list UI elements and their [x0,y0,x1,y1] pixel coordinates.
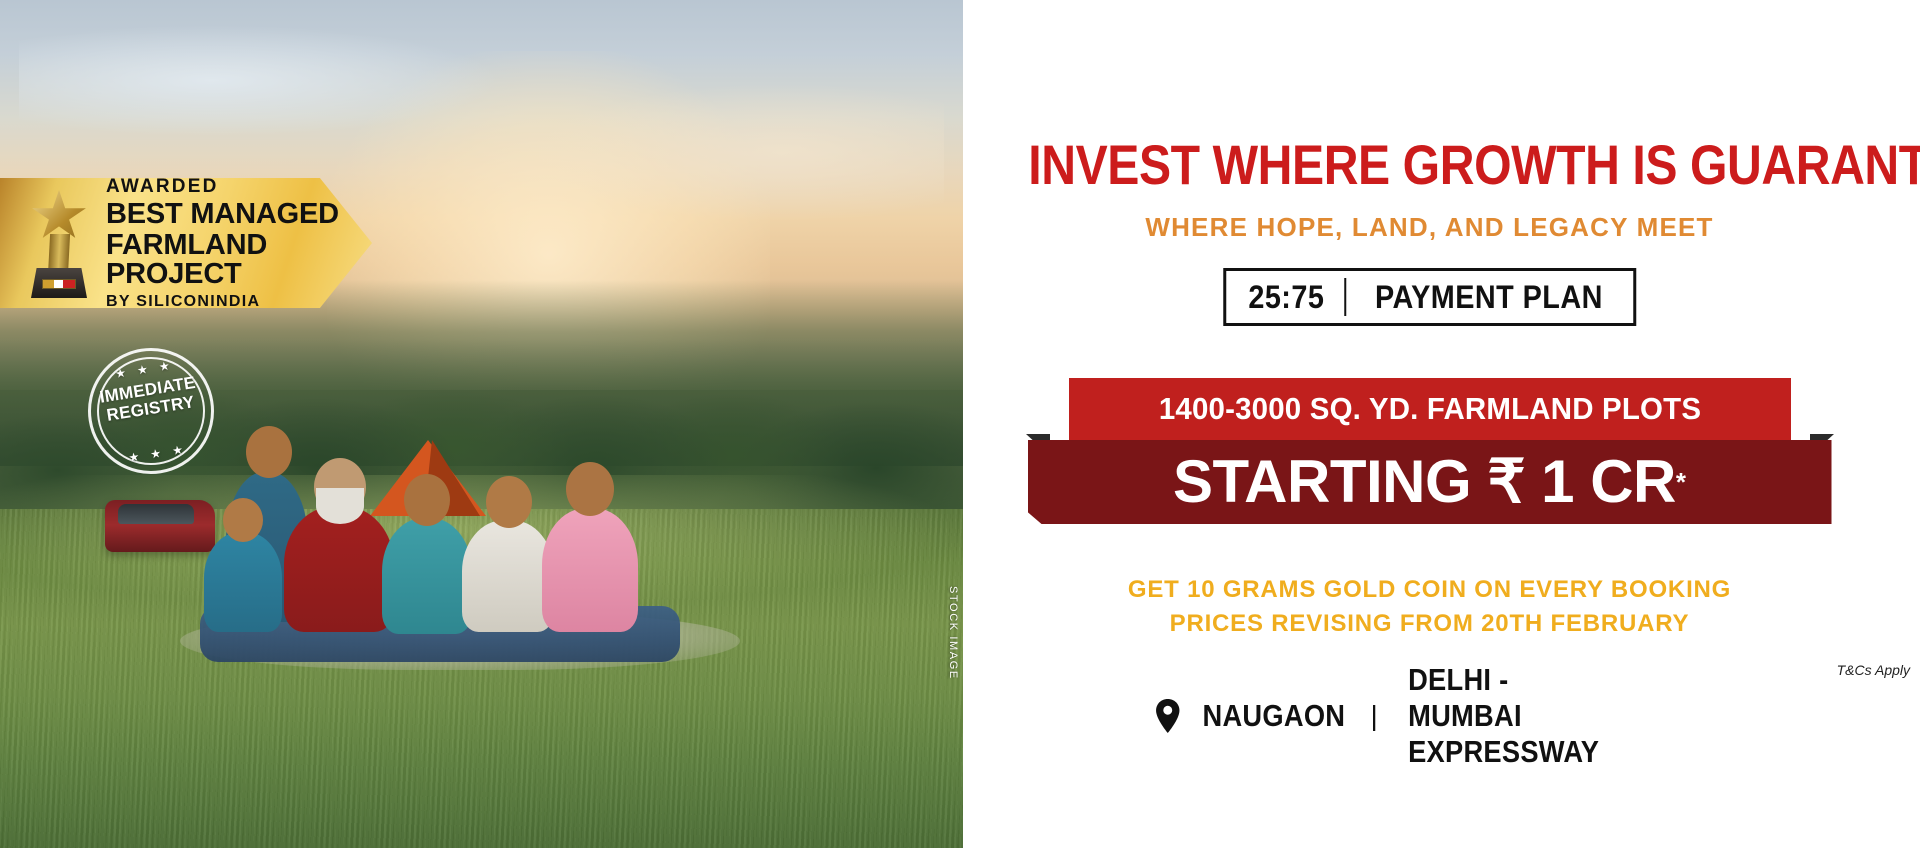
ad-banner: AWARDED BEST MANAGED FARMLAND PROJECT BY… [0,0,1920,848]
cloud-right [539,85,943,221]
person-body-5 [462,520,554,632]
person-beard-3 [316,488,364,524]
person-head-2 [223,498,263,542]
price-asterisk: * [1676,467,1686,498]
terms-text: T&Cs Apply [1837,662,1910,678]
location-row: NAUGAON | DELHI - MUMBAI EXPRESSWAY [1154,662,1633,770]
award-badge: AWARDED BEST MANAGED FARMLAND PROJECT BY… [0,178,372,308]
headline: INVEST WHERE GROWTH IS GUARANTEED [1028,132,1830,197]
stock-image-label: STOCK IMAGE [947,586,959,680]
award-line-best-managed: BEST MANAGED [106,200,372,229]
award-line-farmland-project: FARMLAND PROJECT [106,231,372,289]
payment-plan-divider [1344,278,1346,316]
person-body-3 [284,506,394,632]
offer-line-1: GET 10 GRAMS GOLD COIN ON EVERY BOOKING [963,576,1896,604]
plot-size-banner: 1400-3000 SQ. YD. FARMLAND PLOTS [1069,378,1791,440]
content-panel: INVEST WHERE GROWTH IS GUARANTEED WHERE … [963,0,1920,848]
award-text-block: AWARDED BEST MANAGED FARMLAND PROJECT BY… [106,177,372,310]
person-body-6 [542,508,638,632]
price-ribbon: 1400-3000 SQ. YD. FARMLAND PLOTS STARTIN… [1050,378,1810,524]
payment-plan-label: PAYMENT PLAN [1360,271,1618,323]
location-place: NAUGAON [1202,698,1345,734]
person-head-6 [566,462,614,516]
person-body-4 [382,518,472,634]
price-text: STARTING ₹ 1 CR [1173,447,1676,517]
offer-line-2: PRICES REVISING FROM 20TH FEBRUARY [963,610,1896,638]
trophy-icon [22,188,96,298]
hero-photo: AWARDED BEST MANAGED FARMLAND PROJECT BY… [0,0,963,848]
person-head-5 [486,476,532,528]
map-pin-icon [1154,699,1180,733]
payment-plan-box: 25:75 PAYMENT PLAN [1223,268,1636,326]
person-head-4 [404,474,450,526]
location-road: DELHI - MUMBAI EXPRESSWAY [1408,662,1618,770]
immediate-registry-stamp: ★ ★ ★ IMMEDIATE REGISTRY ★ ★ ★ [79,339,223,483]
car-window [118,504,194,524]
person-head-1 [246,426,292,478]
payment-plan-ratio: 25:75 [1232,271,1339,323]
cloud-left [19,25,501,135]
location-separator: | [1367,700,1382,732]
price-banner: STARTING ₹ 1 CR* [1028,440,1832,524]
family-group [190,420,750,660]
trophy-plate [42,279,76,289]
subheadline: WHERE HOPE, LAND, AND LEGACY MEET [963,212,1896,243]
person-body-2 [204,532,282,632]
